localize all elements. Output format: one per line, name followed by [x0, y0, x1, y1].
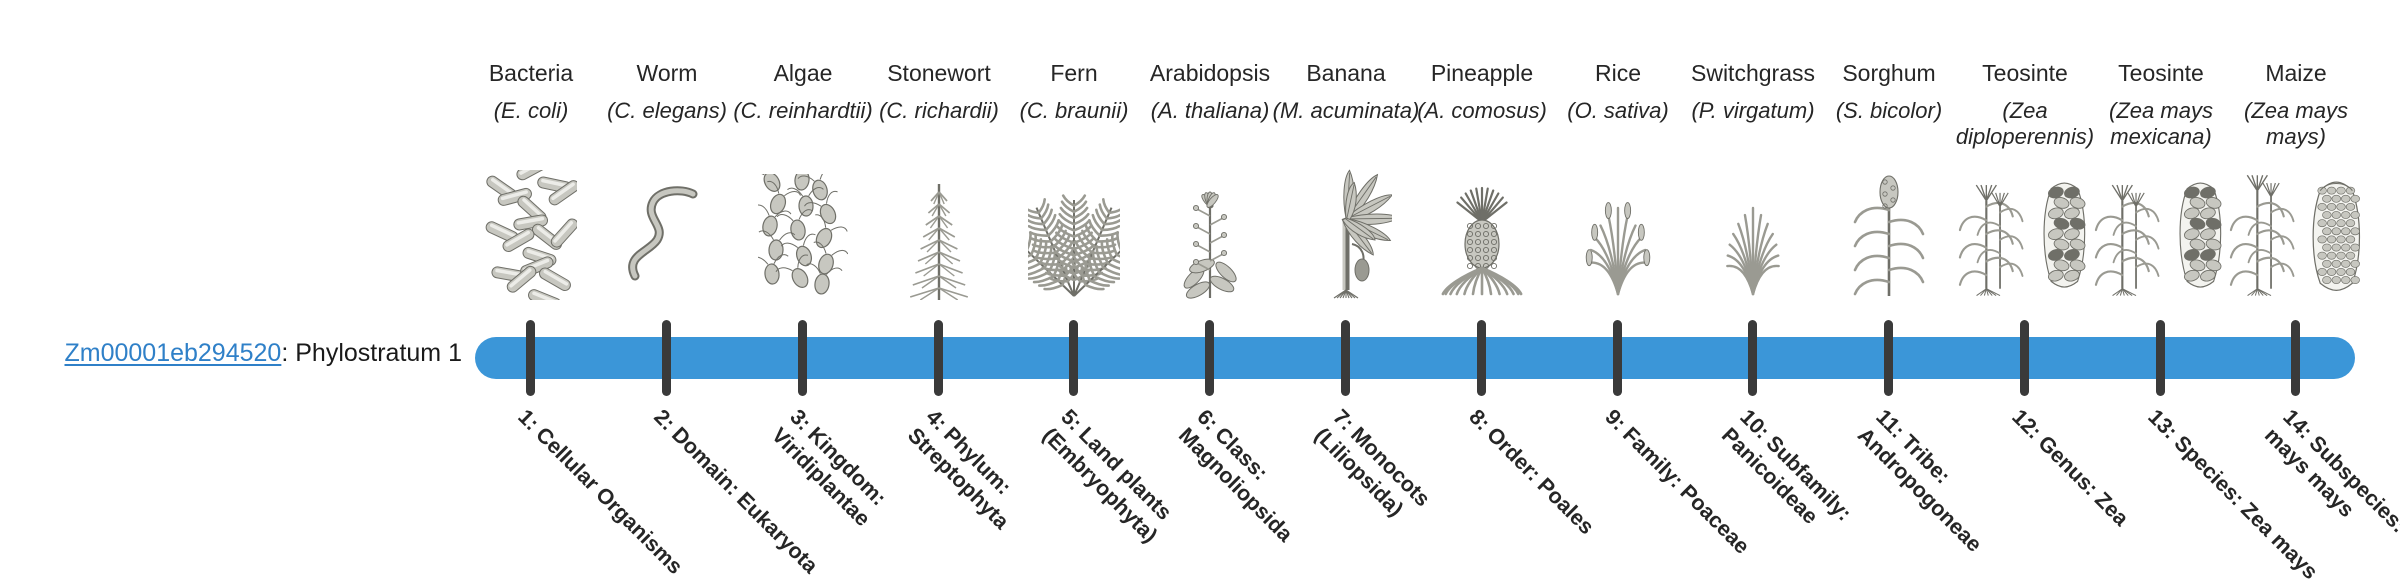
species-column-12: Teosinte(Zea diploperennis) 12: Genus: Z…: [1957, 0, 2093, 580]
species-column-2: Worm(C. elegans) 2: Domain: Eukaryota: [599, 0, 735, 580]
species-common-name: Maize: [2220, 60, 2372, 86]
species-common-name: Worm: [591, 60, 743, 86]
species-scientific-name: (Zea diploperennis): [1951, 98, 2099, 150]
teosinte-plant-and-ear-icon: [2093, 170, 2229, 300]
nematode-worm-icon: [599, 170, 735, 300]
species-column-10: Switchgrass(P. virgatum)10: Subfamily: P…: [1685, 0, 1821, 580]
species-column-7: Banana(M. acuminata) 7: Monocots (Lilio: [1278, 0, 1414, 580]
phylostratum-tick-13: [2156, 320, 2165, 396]
bacteria-rods-icon: [463, 170, 599, 300]
species-column-6: Arabidopsis(A. thaliana)6: Class: Magnol…: [1142, 0, 1278, 580]
arabidopsis-rosette-icon: [1142, 170, 1278, 300]
phylostratum-tick-4: [934, 320, 943, 396]
phylostratum-tick-2: [662, 320, 671, 396]
phylostratum-tick-10: [1748, 320, 1757, 396]
species-scientific-name: (C. elegans): [593, 98, 741, 124]
banana-palm-icon: [1278, 170, 1414, 300]
species-scientific-name: (A. comosus): [1408, 98, 1556, 124]
phylostratum-tick-5: [1069, 320, 1078, 396]
species-scientific-name: (C. reinhardtii): [729, 98, 877, 124]
species-scientific-name: (C. richardii): [865, 98, 1013, 124]
phylostratum-figure: Zm00001eb294520: Phylostratum 1 Bacteria…: [0, 0, 2400, 580]
species-column-8: Pineapple(A. comosus)8: Order: Poales: [1414, 0, 1550, 580]
species-column-13: Teosinte(Zea mays mexicana) 13: Species:…: [2093, 0, 2229, 580]
sorghum-plant-icon: [1821, 170, 1957, 300]
species-common-name: Stonewort: [863, 60, 1015, 86]
species-column-9: Rice(O. sativa)9: Family: Poaceae: [1550, 0, 1686, 580]
species-scientific-name: (S. bicolor): [1815, 98, 1963, 124]
gene-label-separator: :: [281, 339, 295, 367]
phylostratum-tick-9: [1613, 320, 1622, 396]
species-column-14: Maize(Zea mays mays) 14: Subspecies: Zea…: [2228, 0, 2364, 580]
species-scientific-name: (E. coli): [457, 98, 605, 124]
species-common-name: Teosinte: [2085, 60, 2237, 86]
switchgrass-plant-icon: [1685, 170, 1821, 300]
species-scientific-name: (M. acuminata): [1272, 98, 1420, 124]
species-common-name: Bacteria: [455, 60, 607, 86]
species-scientific-name: (O. sativa): [1544, 98, 1692, 124]
gene-phylostratum-label: Zm00001eb294520: Phylostratum 1: [0, 338, 462, 368]
species-common-name: Algae: [727, 60, 879, 86]
phylostratum-tick-3: [798, 320, 807, 396]
species-column-3: Algae(C. reinhardtii): [735, 0, 871, 580]
teosinte-plant-and-ear-icon: [1957, 170, 2093, 300]
species-common-name: Rice: [1542, 60, 1694, 86]
species-common-name: Pineapple: [1406, 60, 1558, 86]
species-scientific-name: (C. braunii): [1000, 98, 1148, 124]
species-column-1: Bacteria(E. coli): [463, 0, 599, 580]
species-column-4: Stonewort(C. richardii)4: Phylum: Strept…: [871, 0, 1007, 580]
phylostratum-tick-11: [1884, 320, 1893, 396]
maize-plant-and-cob-icon: [2228, 170, 2364, 300]
species-column-11: Sorghum(S. bicolor)11: Tribe: Andropogon…: [1821, 0, 1957, 580]
species-common-name: Teosinte: [1949, 60, 2101, 86]
phylostratum-tick-14: [2291, 320, 2300, 396]
phylostratum-tick-1: [526, 320, 535, 396]
species-scientific-name: (Zea mays mexicana): [2087, 98, 2235, 150]
phylostratum-tick-7: [1341, 320, 1350, 396]
phylostratum-value: Phylostratum 1: [295, 339, 462, 367]
rice-plant-icon: [1550, 170, 1686, 300]
species-scientific-name: (P. virgatum): [1679, 98, 1827, 124]
species-common-name: Switchgrass: [1677, 60, 1829, 86]
fern-frond-icon: [1006, 170, 1142, 300]
species-common-name: Sorghum: [1813, 60, 1965, 86]
species-common-name: Arabidopsis: [1134, 60, 1286, 86]
species-common-name: Banana: [1270, 60, 1422, 86]
phylostratum-label-14: 14: Subspecies: Zea mays mays: [2259, 404, 2400, 580]
green-algae-cells-icon: [735, 170, 871, 300]
species-column-5: Fern(C. braunii) 5: Land plants (Embryop…: [1006, 0, 1142, 580]
pineapple-plant-icon: [1414, 170, 1550, 300]
phylostratum-tick-6: [1205, 320, 1214, 396]
gene-id-link[interactable]: Zm00001eb294520: [64, 339, 281, 367]
phylostratum-tick-8: [1477, 320, 1486, 396]
species-scientific-name: (A. thaliana): [1136, 98, 1284, 124]
species-scientific-name: (Zea mays mays): [2222, 98, 2370, 150]
species-common-name: Fern: [998, 60, 1150, 86]
phylostratum-tick-12: [2020, 320, 2029, 396]
stonewort-alga-icon: [871, 170, 1007, 300]
